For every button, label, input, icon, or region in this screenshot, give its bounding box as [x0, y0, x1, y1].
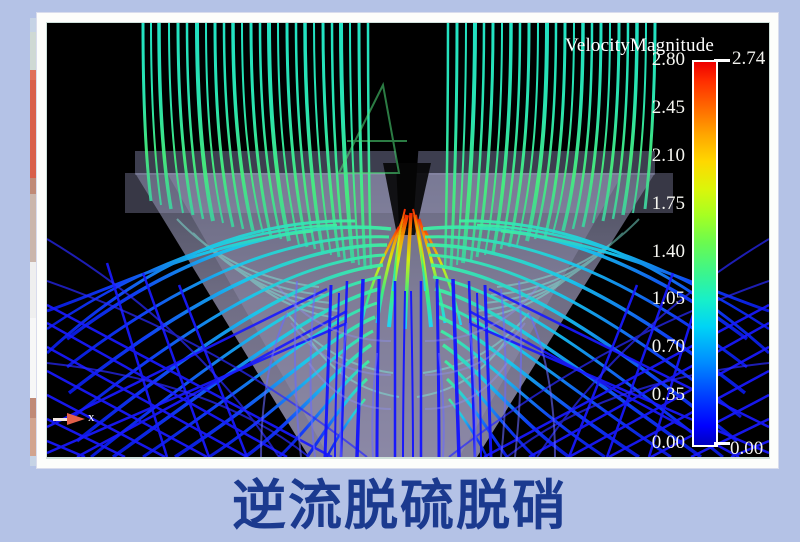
cfd-scene — [47, 23, 769, 457]
slide-caption: 逆流脱硫脱硝 — [0, 473, 800, 539]
axis-x-label: x — [88, 409, 95, 425]
axis-orientation-widget: x — [51, 405, 111, 435]
x-axis-arrow-icon — [67, 413, 85, 425]
slide-canvas: x VelocityMagnitude 2.80 2.45 2.10 1.75 … — [0, 0, 800, 542]
render-viewport[interactable]: x VelocityMagnitude 2.80 2.45 2.10 1.75 … — [47, 23, 769, 457]
streamline-plot — [47, 23, 769, 457]
